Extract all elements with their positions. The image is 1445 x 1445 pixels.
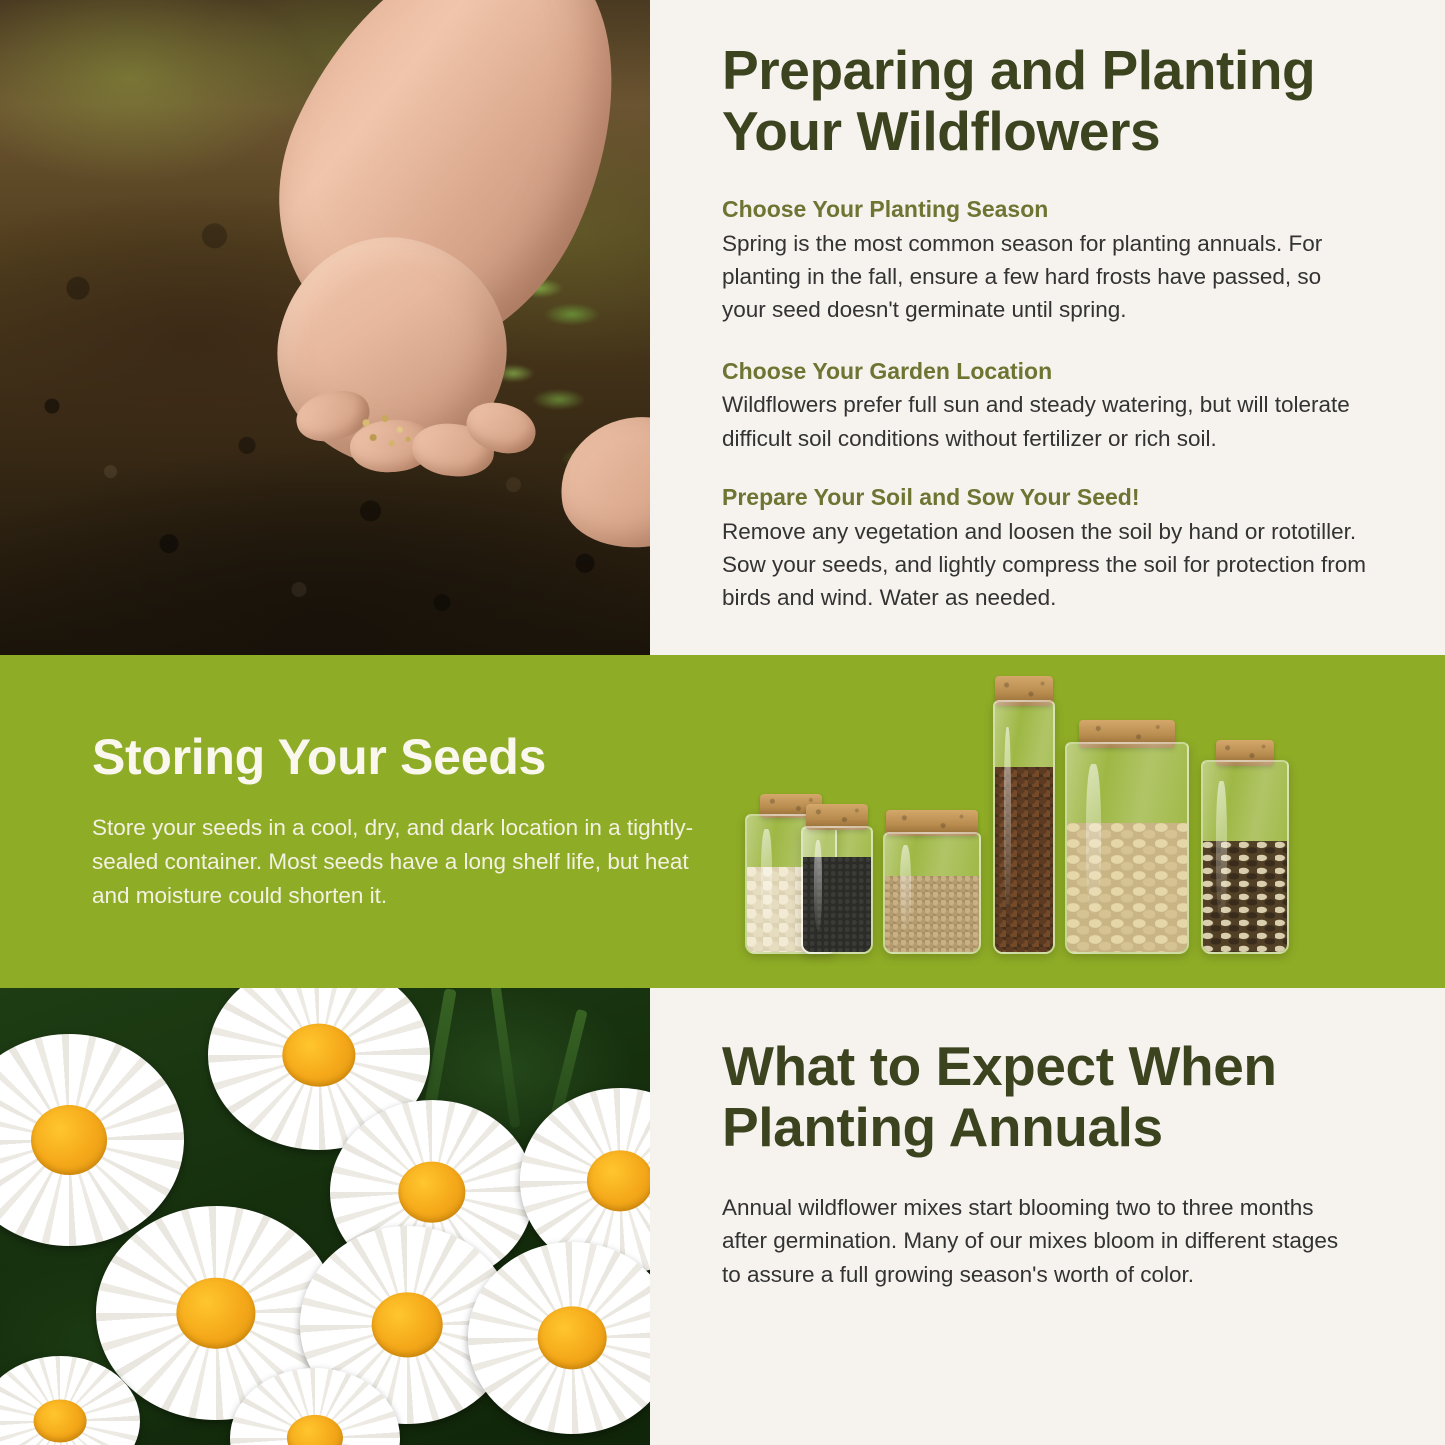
flower-center	[538, 1306, 607, 1369]
block-garden-location: Choose Your Garden Location Wildflowers …	[722, 357, 1371, 455]
glass-body	[1201, 760, 1289, 954]
body-planting-season: Spring is the most common season for pla…	[722, 227, 1371, 327]
glass-body	[801, 826, 873, 954]
flower-center	[176, 1278, 255, 1349]
subheading-prepare-soil: Prepare Your Soil and Sow Your Seed!	[722, 483, 1371, 512]
page-title-what-to-expect: What to Expect When Planting Annuals	[722, 1036, 1371, 1157]
body-garden-location: Wildflowers prefer full sun and steady w…	[722, 388, 1371, 455]
daisy-flower	[468, 1242, 650, 1434]
block-prepare-soil: Prepare Your Soil and Sow Your Seed! Rem…	[722, 483, 1371, 615]
flower-center	[398, 1162, 465, 1223]
jar-tan-grain	[883, 832, 981, 954]
flower-center	[587, 1150, 650, 1211]
glass-highlight	[814, 840, 822, 929]
glass-body	[1065, 742, 1189, 954]
page-title-storing: Storing Your Seeds	[92, 730, 735, 785]
section-what-to-expect: What to Expect When Planting Annuals Ann…	[0, 988, 1445, 1445]
glass-body	[883, 832, 981, 954]
hand-sowing-seeds-photo	[0, 0, 650, 655]
subheading-garden-location: Choose Your Garden Location	[722, 357, 1371, 386]
jar-brown-seeds-tall	[993, 700, 1055, 954]
storing-text-column: Storing Your Seeds Store your seeds in a…	[0, 730, 735, 914]
jar-mixed-seeds	[1201, 760, 1289, 954]
glass-highlight	[1086, 764, 1100, 914]
white-daisies-photo	[0, 988, 650, 1445]
glass-highlight	[1216, 781, 1226, 918]
flower-center	[372, 1292, 443, 1357]
jar-black-seeds	[801, 826, 873, 954]
glass-body	[993, 700, 1055, 954]
seed-jars-photo	[735, 672, 1445, 972]
daisy-flower	[0, 1356, 140, 1445]
section-preparing-and-planting: Preparing and Planting Your Wildflowers …	[0, 0, 1445, 655]
glass-highlight	[900, 845, 911, 930]
seed-fill	[1067, 823, 1187, 952]
glass-highlight	[761, 829, 772, 927]
body-what-to-expect: Annual wildflower mixes start blooming t…	[722, 1191, 1362, 1291]
jar-pumpkin-seeds	[1065, 742, 1189, 954]
flower-center	[282, 1024, 355, 1087]
page-title-preparing: Preparing and Planting Your Wildflowers	[722, 40, 1371, 161]
daisy-flower	[230, 1368, 400, 1445]
section-storing-your-seeds: Storing Your Seeds Store your seeds in a…	[0, 655, 1445, 988]
flower-center	[34, 1400, 87, 1443]
seeds-in-hand	[350, 405, 421, 460]
body-storing: Store your seeds in a cool, dry, and dar…	[92, 811, 717, 914]
preparing-text-column: Preparing and Planting Your Wildflowers …	[650, 0, 1445, 655]
subheading-planting-season: Choose Your Planting Season	[722, 195, 1371, 224]
body-prepare-soil: Remove any vegetation and loosen the soi…	[722, 515, 1371, 615]
glass-highlight	[1004, 727, 1011, 907]
expect-text-column: What to Expect When Planting Annuals Ann…	[650, 988, 1445, 1445]
infographic-page: Preparing and Planting Your Wildflowers …	[0, 0, 1445, 1445]
block-planting-season: Choose Your Planting Season Spring is th…	[722, 195, 1371, 327]
flower-center	[31, 1105, 107, 1175]
